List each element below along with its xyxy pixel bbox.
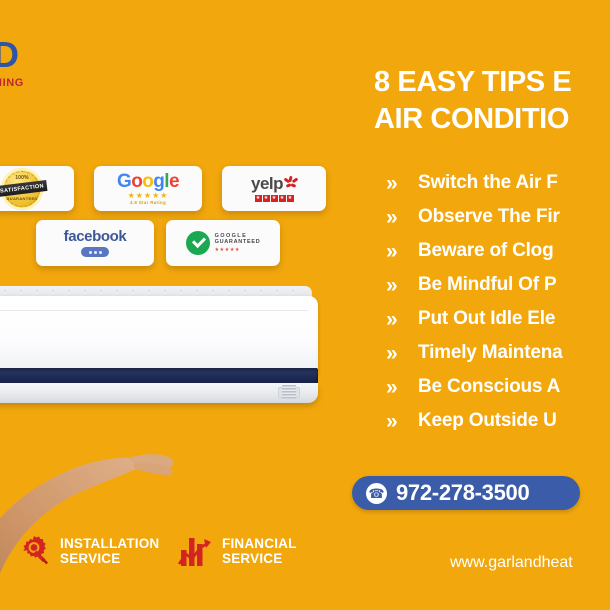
phone-icon: ☎ [366, 483, 387, 504]
financial-service-badge: FINANCIAL SERVICE [178, 534, 297, 568]
financial-service-line1: FINANCIAL [222, 536, 297, 551]
chevron-right-icon: » [386, 173, 418, 194]
satisfaction-badge[interactable]: 100% SATISFACTION GUARANTEED [0, 166, 74, 211]
yelp-wordmark: yelp [251, 175, 283, 192]
air-conditioner-image [0, 286, 318, 406]
list-item-label: Put Out Idle Ele [418, 308, 555, 330]
google-rating-text: 4.8 Star Rating [117, 201, 179, 206]
list-item: » Put Out Idle Ele [386, 302, 610, 336]
list-item: » Timely Maintena [386, 336, 610, 370]
google-badge[interactable]: Google ★★★★★ 4.8 Star Rating [94, 166, 202, 211]
chevron-right-icon: » [386, 309, 418, 330]
google-guaranteed-line1: GOOGLE [215, 233, 261, 240]
list-item-label: Timely Maintena [418, 342, 562, 364]
list-item: » Be Conscious A [386, 370, 610, 404]
phone-cta-button[interactable]: ☎ 972-278-3500 [352, 476, 580, 510]
ad-banner-canvas: AND ONDITIONING 100% SATISFACTION GUARAN… [0, 0, 610, 610]
company-logo[interactable]: AND ONDITIONING [0, 36, 82, 100]
green-check-icon [186, 231, 210, 255]
phone-number: 972-278-3500 [396, 480, 529, 506]
google-guaranteed-stars: ★★★★★ [215, 247, 261, 253]
list-item: » Be Mindful Of P [386, 268, 610, 302]
list-item-label: Be Mindful Of P [418, 274, 556, 296]
google-guaranteed-badge[interactable]: GOOGLE GUARANTEED ★★★★★ [166, 220, 280, 266]
google-guaranteed-line2: GUARANTEED [215, 239, 261, 246]
tips-list: » Switch the Air F » Observe The Fir » B… [386, 166, 610, 438]
list-item: » Beware of Clog [386, 234, 610, 268]
chevron-right-icon: » [386, 377, 418, 398]
headline-line-2: AIR CONDITIO [374, 101, 610, 138]
financial-service-line2: SERVICE [222, 551, 297, 566]
facebook-logo-icon: facebook [64, 229, 127, 244]
installation-service-line2: SERVICE [60, 551, 159, 566]
satisfaction-band-text: SATISFACTION [0, 182, 44, 193]
satisfaction-seal-icon: 100% SATISFACTION GUARANTEED [0, 168, 44, 210]
list-item-label: Beware of Clog [418, 240, 554, 262]
installation-service-badge: INSTALLATION SERVICE [18, 534, 159, 568]
installation-service-line1: INSTALLATION [60, 536, 159, 551]
list-item: » Switch the Air F [386, 166, 610, 200]
yelp-badge[interactable]: yelp ★★★★★ [222, 166, 326, 211]
google-star-row: ★★★★★ [117, 192, 179, 200]
google-logo-icon: Google [117, 172, 179, 191]
chevron-right-icon: » [386, 275, 418, 296]
list-item-label: Be Conscious A [418, 376, 560, 398]
facebook-badge[interactable]: facebook [36, 220, 154, 266]
logo-wordmark: AND [0, 36, 82, 74]
website-url[interactable]: www.garlandheat [450, 554, 573, 572]
bar-chart-arrow-icon [178, 534, 214, 568]
list-item-label: Observe The Fir [418, 206, 560, 228]
chevron-right-icon: » [386, 207, 418, 228]
yelp-logo-icon [284, 176, 297, 190]
facebook-rating-pill [81, 247, 109, 257]
chevron-right-icon: » [386, 241, 418, 262]
list-item-label: Keep Outside U [418, 410, 557, 432]
satisfaction-guarantee-text: GUARANTEED [0, 196, 44, 201]
outstretched-arm-image [0, 398, 198, 610]
satisfaction-percent: 100% [0, 175, 44, 181]
page-title: 8 EASY TIPS E AIR CONDITIO [374, 64, 610, 138]
headline-line-1: 8 EASY TIPS E [374, 64, 610, 101]
yelp-star-row: ★★★★★ [251, 195, 297, 202]
chevron-right-icon: » [386, 343, 418, 364]
list-item: » Keep Outside U [386, 404, 610, 438]
list-item-label: Switch the Air F [418, 172, 558, 194]
chevron-right-icon: » [386, 411, 418, 432]
list-item: » Observe The Fir [386, 200, 610, 234]
logo-subtext: ONDITIONING [0, 76, 82, 90]
gear-wrench-icon [18, 534, 52, 568]
